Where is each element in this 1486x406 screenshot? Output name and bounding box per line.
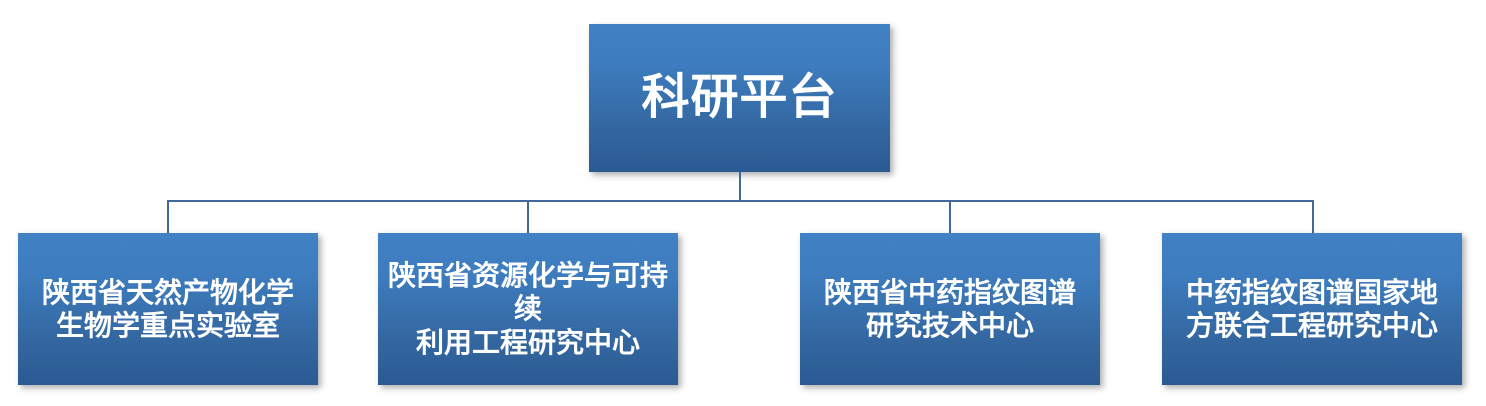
connector-drop-child-2	[527, 200, 529, 233]
org-node-child-3[interactable]: 陕西省中药指纹图谱 研究技术中心	[800, 233, 1100, 385]
org-node-child-2[interactable]: 陕西省资源化学与可持续 利用工程研究中心	[378, 233, 678, 385]
org-node-root[interactable]: 科研平台	[589, 24, 890, 172]
connector-root-stem	[739, 172, 741, 202]
org-node-child-1[interactable]: 陕西省天然产物化学 生物学重点实验室	[18, 233, 318, 385]
connector-drop-child-3	[949, 200, 951, 233]
connector-drop-child-4	[1312, 200, 1314, 233]
connector-horizontal-bus	[167, 200, 1314, 202]
org-chart-canvas: 科研平台 陕西省天然产物化学 生物学重点实验室 陕西省资源化学与可持续 利用工程…	[0, 0, 1486, 406]
connector-drop-child-1	[167, 200, 169, 233]
org-node-child-4[interactable]: 中药指纹图谱国家地 方联合工程研究中心	[1162, 233, 1462, 385]
